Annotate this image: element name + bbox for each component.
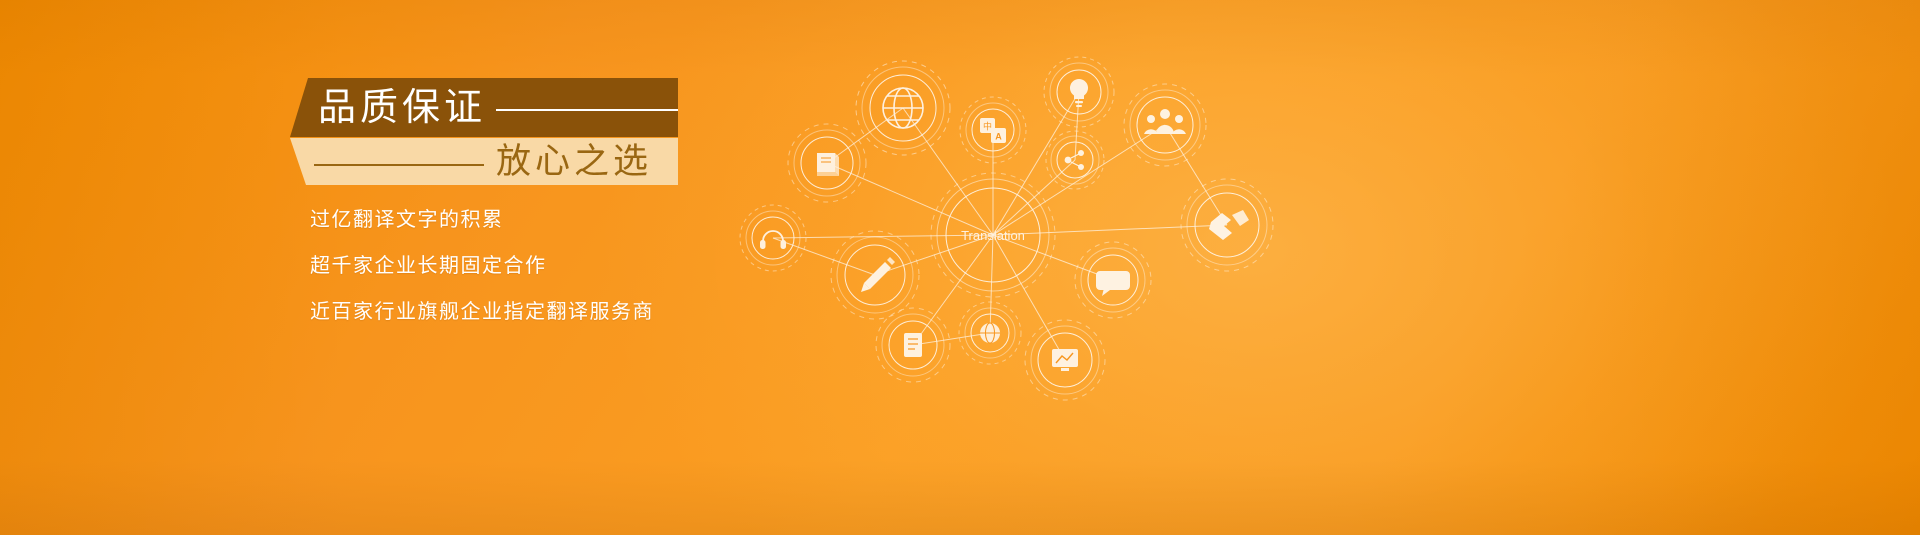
promo-banner: 品质保证 放心之选 过亿翻译文字的积累 超千家企业长期固定合作 近百家行业旗舰企… — [0, 0, 1920, 535]
node-globe-icon — [856, 61, 950, 155]
headline-block: 品质保证 放心之选 — [290, 78, 678, 185]
node-world-globe-small-icon — [959, 302, 1021, 364]
node-document-list-icon — [876, 308, 950, 382]
bullet-item: 过亿翻译文字的积累 — [310, 210, 654, 230]
node-lightbulb-icon — [1044, 57, 1114, 127]
node-pencil-icon — [831, 231, 919, 319]
svg-text:中: 中 — [983, 121, 992, 133]
headline-ribbon-dark: 品质保证 — [290, 78, 678, 137]
node-monitor-icon — [1025, 320, 1105, 400]
bullet-item: 近百家行业旗舰企业指定翻译服务商 — [310, 302, 654, 322]
node-book-icon — [788, 124, 866, 202]
headline-ribbon-light: 放心之选 — [290, 138, 678, 185]
bullet-list: 过亿翻译文字的积累 超千家企业长期固定合作 近百家行业旗舰企业指定翻译服务商 — [310, 210, 654, 322]
headline-rule-brown — [314, 164, 484, 166]
translation-network-graphic: Translation — [735, 30, 1335, 420]
headline-line2: 放心之选 — [496, 144, 652, 179]
svg-text:A: A — [995, 132, 1002, 142]
network-center-label: Translation — [961, 228, 1025, 243]
headline-line1: 品质保证 — [318, 89, 486, 127]
headline-ribbon-dark-row: 品质保证 — [290, 78, 678, 137]
bullet-item: 超千家企业长期固定合作 — [310, 256, 654, 276]
headline-rule-white — [496, 109, 678, 111]
node-chat-bubble-icon — [1075, 242, 1151, 318]
node-people-group-icon — [1124, 84, 1206, 166]
